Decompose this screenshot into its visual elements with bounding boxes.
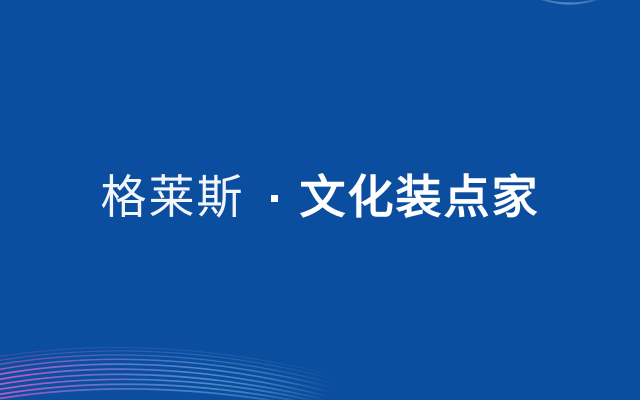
headline-container: 格莱斯 文化装点家 <box>0 0 640 400</box>
slide-canvas: 格莱斯 文化装点家 <box>0 0 640 400</box>
separator-dot-icon <box>271 195 278 202</box>
headline: 格莱斯 文化装点家 <box>101 174 540 220</box>
tagline: 文化装点家 <box>300 174 540 220</box>
brand-name: 格莱斯 <box>101 174 245 220</box>
